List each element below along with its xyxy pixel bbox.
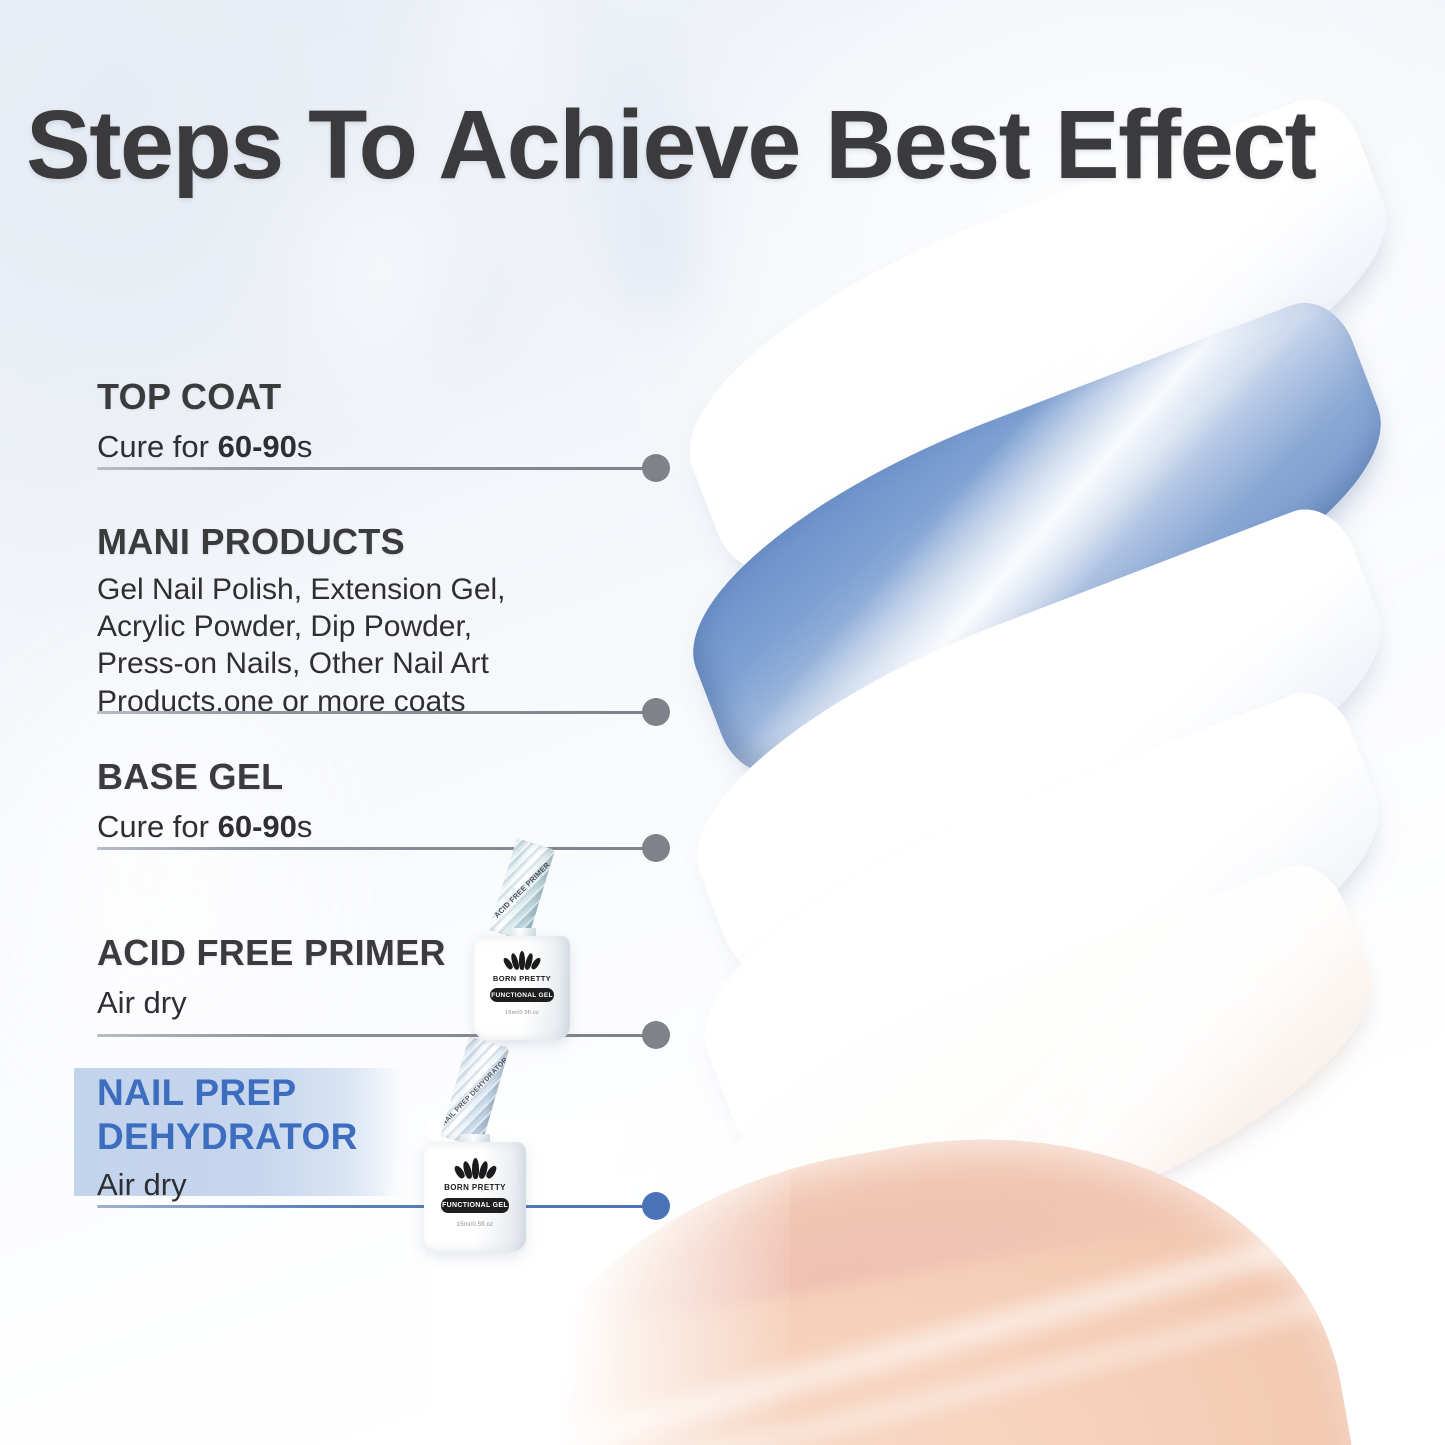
step-description-line: Products.one or more coats	[97, 683, 506, 720]
connector-dot-mani-products	[642, 698, 670, 726]
step-subtitle-suffix: s	[297, 809, 313, 844]
acid-free-primer-bottle: ACID FREE PRIMER BORN PRETTY FUNCTIONAL …	[462, 842, 582, 1042]
bottle-brand-text: BORN PRETTY	[474, 974, 570, 983]
bottle-fine-print: 15ml/0.5fl.oz	[424, 1222, 526, 1228]
connector-dot-nail-prep-dehydrator	[642, 1192, 670, 1220]
step-description: Gel Nail Polish, Extension Gel, Acrylic …	[97, 571, 506, 720]
bottle-brand-text: BORN PRETTY	[424, 1183, 526, 1192]
step-title: TOP COAT	[97, 378, 281, 415]
step-subtitle-suffix: s	[297, 429, 313, 464]
page-title: Steps To Achieve Best Effect	[26, 96, 1426, 195]
step-subtitle-value: 60-90	[218, 429, 297, 464]
bottle-body: BORN PRETTY FUNCTIONAL GEL 15ml/0.5fl.oz	[424, 1142, 526, 1252]
born-pretty-logo-icon	[451, 1155, 499, 1179]
step-subtitle: Air dry	[97, 984, 187, 1022]
step-title-line-2: DEHYDRATOR	[97, 1118, 358, 1156]
nail-prep-dehydrator-bottle: NAIL PREP DEHYDRATOR BORN PRETTY FUNCTIO…	[410, 1040, 540, 1240]
bottle-band-label: FUNCTIONAL GEL	[490, 988, 554, 1002]
connector-line-top-coat	[97, 467, 657, 470]
bottle-band-label: FUNCTIONAL GEL	[441, 1198, 509, 1213]
step-subtitle: Cure for 60-90s	[97, 428, 312, 466]
step-subtitle-value: 60-90	[218, 809, 297, 844]
step-title: BASE GEL	[97, 758, 283, 795]
bottle-cap: ACID FREE PRIMER	[489, 838, 555, 942]
infographic-canvas: Steps To Achieve Best Effect TOP COAT Cu…	[0, 0, 1445, 1445]
bottle-cap: NAIL PREP DEHYDRATOR	[440, 1036, 509, 1148]
step-title-line-1: NAIL PREP	[97, 1074, 296, 1112]
step-subtitle: Air dry	[97, 1166, 187, 1204]
connector-line-nail-prep-dehydrator	[97, 1205, 657, 1208]
step-description-line: Acrylic Powder, Dip Powder,	[97, 608, 506, 645]
born-pretty-logo-icon	[500, 948, 544, 970]
bottle-body: BORN PRETTY FUNCTIONAL GEL 15ml/0.5fl.oz	[474, 936, 570, 1040]
step-subtitle: Cure for 60-90s	[97, 808, 312, 846]
connector-dot-acid-free-primer	[642, 1021, 670, 1049]
step-title: ACID FREE PRIMER	[97, 934, 446, 971]
step-title: MANI PRODUCTS	[97, 523, 405, 560]
step-subtitle-prefix: Cure for	[97, 809, 218, 844]
connector-line-mani-products	[97, 711, 657, 714]
step-description-line: Gel Nail Polish, Extension Gel,	[97, 571, 506, 608]
connector-dot-top-coat	[642, 454, 670, 482]
connector-dot-base-gel	[642, 834, 670, 862]
bottle-fine-print: 15ml/0.5fl.oz	[474, 1010, 570, 1016]
step-subtitle-prefix: Cure for	[97, 429, 218, 464]
step-description-line: Press-on Nails, Other Nail Art	[97, 645, 506, 682]
